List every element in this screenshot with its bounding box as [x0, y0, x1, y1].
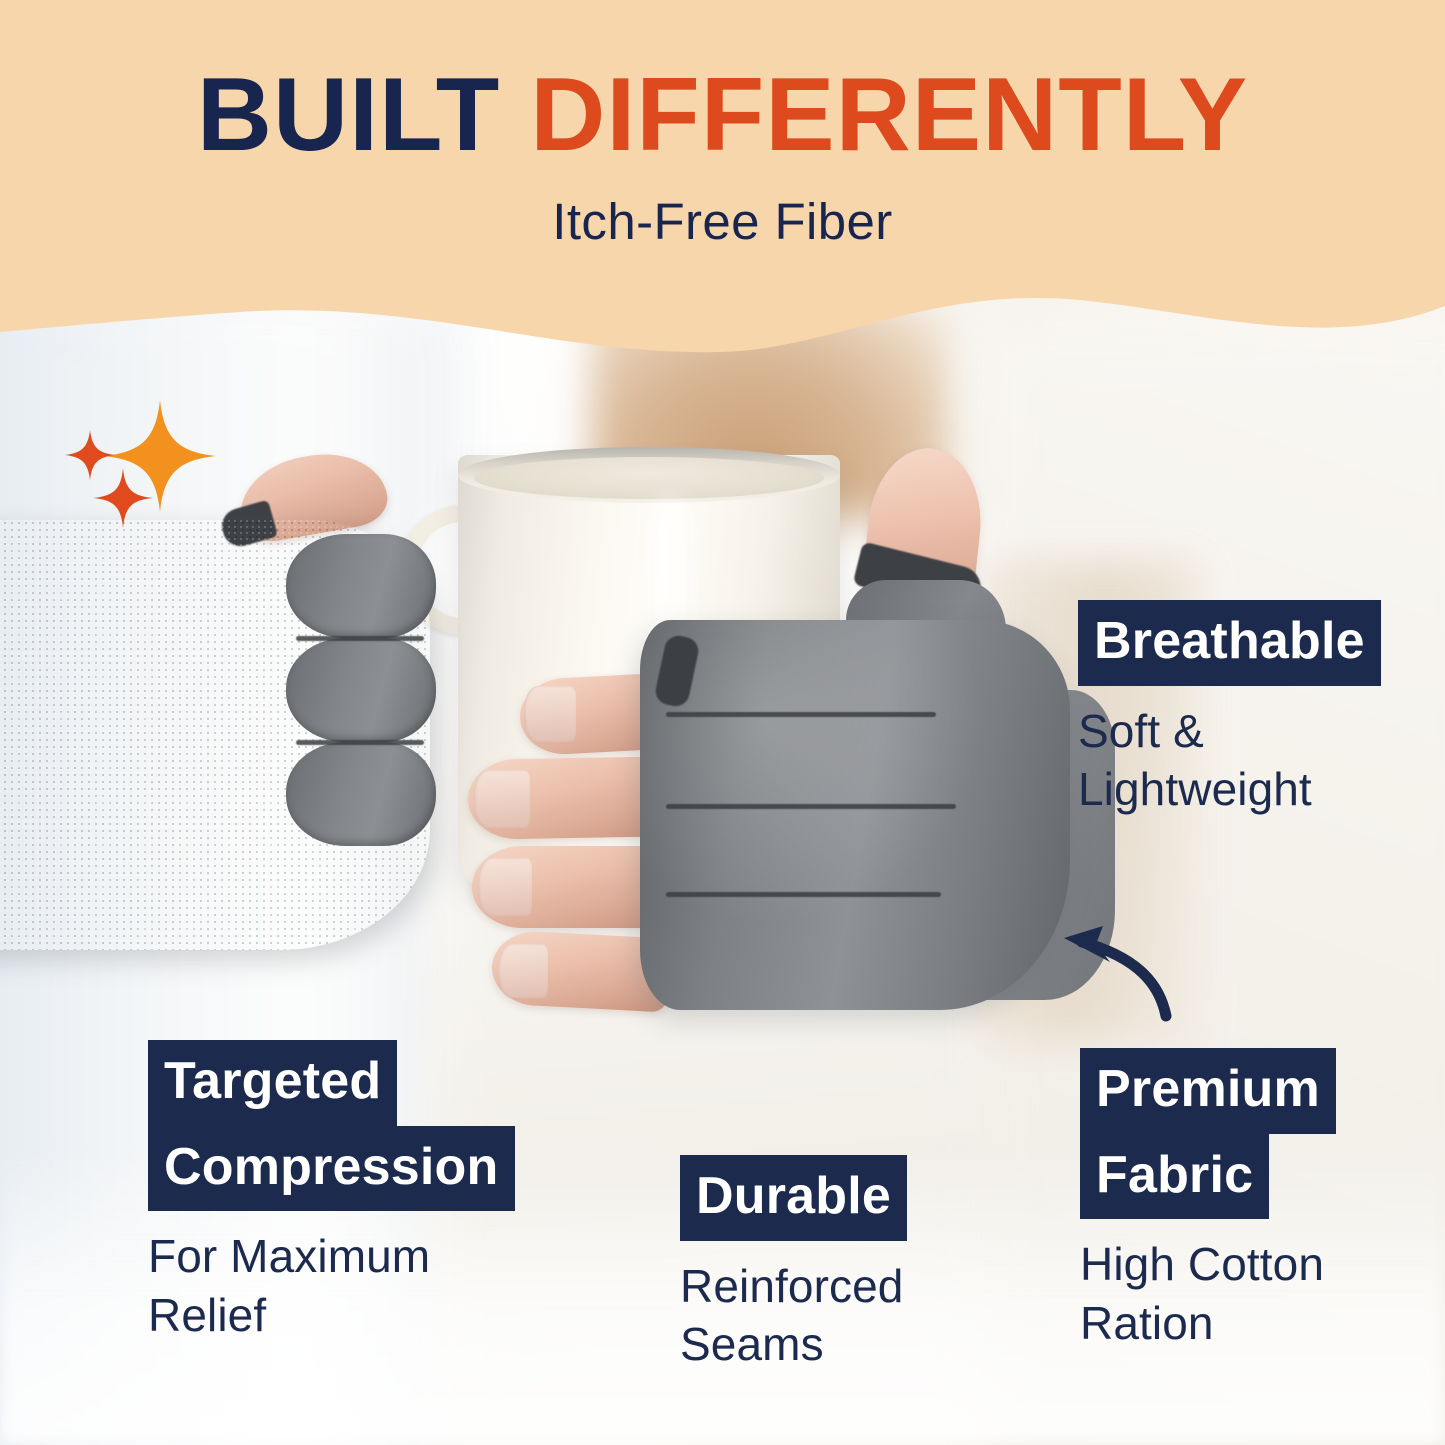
badge-wrap-durable: Durable: [680, 1155, 980, 1241]
status-badge-fabric: Fabric: [1080, 1134, 1269, 1220]
right-fingernail-1: [524, 686, 576, 742]
left-glove-seam-1: [296, 636, 424, 641]
right-gloved-hand: [640, 620, 1070, 1010]
badge-wrap-targeted-compression: Targeted Compression: [148, 1040, 548, 1211]
feature-description-breathable: Soft &Lightweight: [1078, 686, 1408, 820]
left-finger-3: [286, 742, 436, 846]
feature-description-targeted-compression: For MaximumRelief: [148, 1211, 548, 1345]
right-fingernail-4: [498, 944, 548, 998]
sparkle-small-left-icon: [65, 430, 115, 480]
title-word-built: BUILT: [197, 57, 500, 173]
badge-wrap-breathable: Breathable: [1078, 600, 1408, 686]
left-gloved-hand: [0, 520, 430, 950]
title-word-differently: DIFFERENTLY: [530, 57, 1248, 173]
status-badge-durable: Durable: [680, 1155, 907, 1241]
feature-callout-breathable: Breathable Soft &Lightweight: [1078, 600, 1408, 819]
feature-callout-targeted-compression: Targeted Compression For MaximumRelief: [148, 1040, 548, 1345]
status-badge-compression: Compression: [148, 1126, 515, 1212]
right-fingernail-3: [478, 858, 532, 916]
feature-description-durable: ReinforcedSeams: [680, 1241, 980, 1375]
left-glove-seam-2: [296, 740, 424, 745]
right-glove-seam-2: [666, 804, 956, 809]
status-badge-targeted: Targeted: [148, 1040, 397, 1126]
feature-description-premium-fabric: High CottonRation: [1080, 1219, 1410, 1353]
sparkle-small-bottom-icon: [93, 468, 153, 528]
header-text-block: BUILT DIFFERENTLY Itch-Free Fiber: [0, 0, 1445, 251]
left-finger-1: [286, 534, 436, 638]
page-title: BUILT DIFFERENTLY: [0, 0, 1445, 168]
feature-callout-premium-fabric: Premium Fabric High CottonRation: [1080, 1048, 1410, 1353]
badge-wrap-premium-fabric: Premium Fabric: [1080, 1048, 1410, 1219]
mug-interior: [474, 457, 824, 499]
right-fingernail-2: [474, 770, 530, 828]
status-badge-premium: Premium: [1080, 1048, 1336, 1134]
left-finger-2: [286, 638, 436, 742]
page-subtitle: Itch-Free Fiber: [0, 168, 1445, 251]
status-badge-breathable: Breathable: [1078, 600, 1381, 686]
right-glove-seam-3: [666, 892, 941, 897]
feature-callout-durable: Durable ReinforcedSeams: [680, 1155, 980, 1374]
sparkle-group: [60, 396, 240, 546]
product-feature-graphic: BUILT DIFFERENTLY Itch-Free Fiber Breath…: [0, 0, 1445, 1445]
right-glove-seam-1: [666, 712, 936, 717]
pointer-arrow: [1048, 914, 1238, 1024]
